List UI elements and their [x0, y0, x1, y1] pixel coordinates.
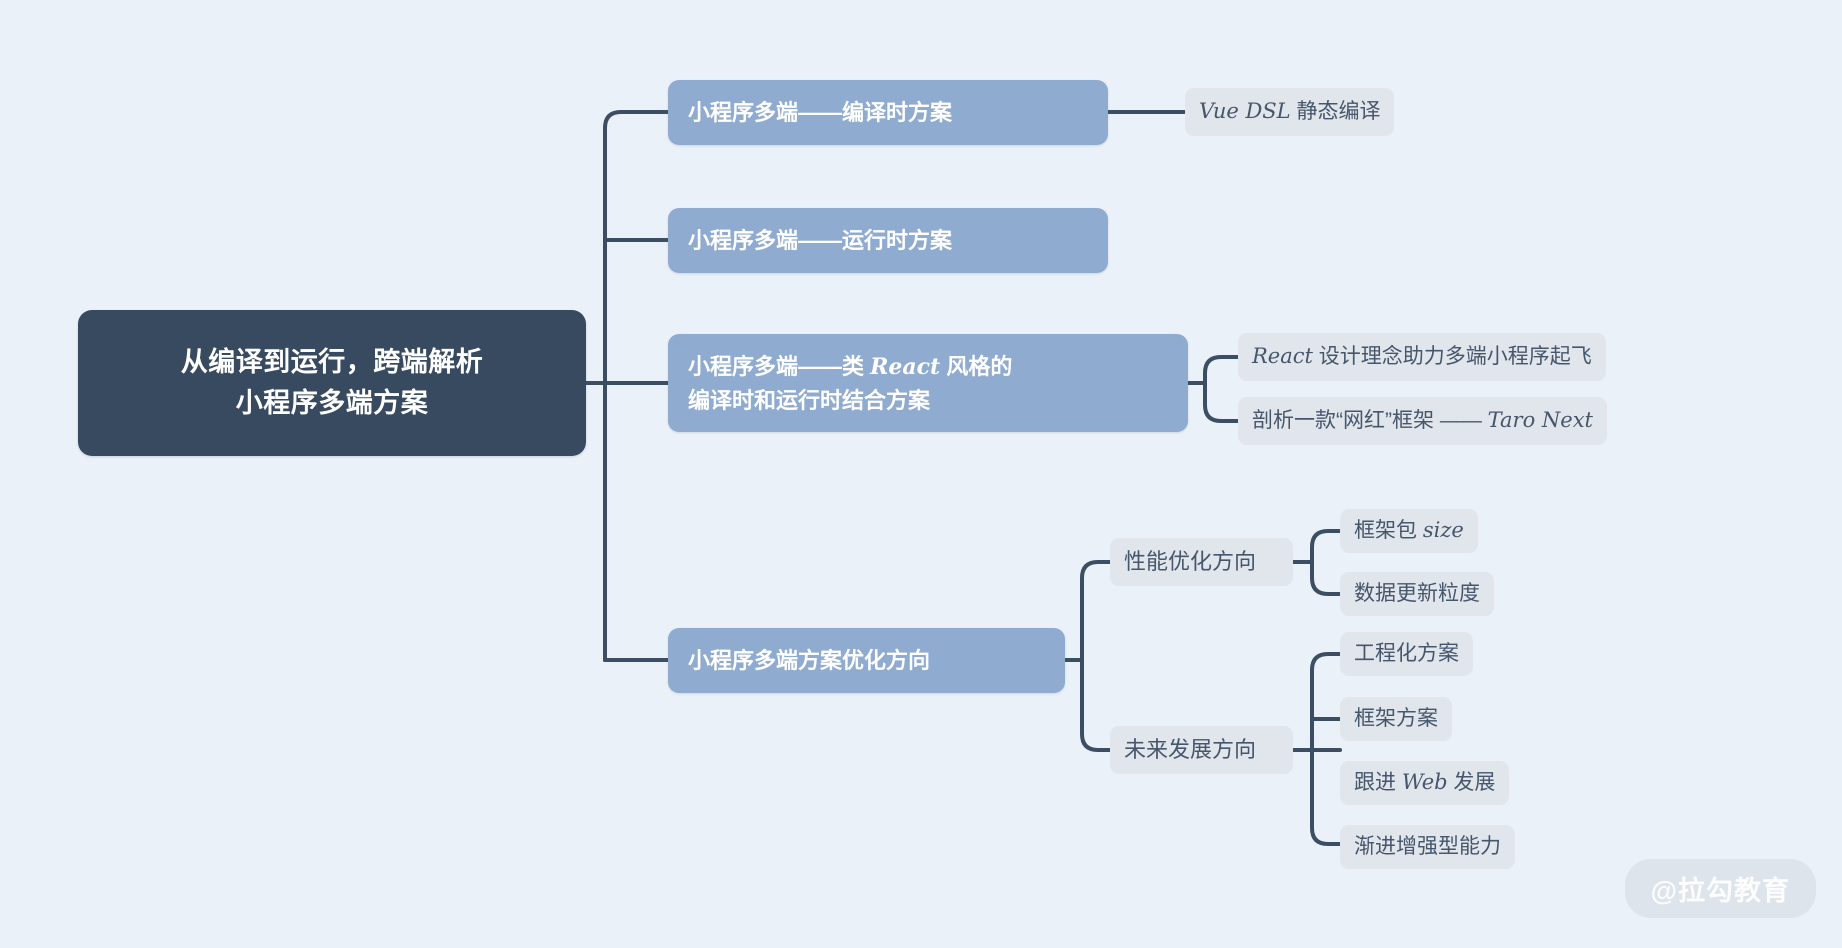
branch-node-react-style-line2: 编译时和运行时结合方案 — [688, 384, 930, 417]
leaf-vue-dsl-label: 静态编译 — [1291, 99, 1381, 124]
leaf-engineering-label: 工程化方案 — [1354, 641, 1459, 666]
leaf-react-latin: React — [1252, 344, 1313, 369]
leaf-vue-dsl-static-compile[interactable]: Vue DSL 静态编译 — [1185, 88, 1394, 136]
leaf-progressive-enhancement[interactable]: 渐进增强型能力 — [1340, 825, 1515, 869]
edge-g2-item4 — [1312, 750, 1340, 844]
leaf-framework-label: 框架方案 — [1354, 706, 1438, 731]
edge-g1-item1 — [1312, 531, 1340, 562]
root-node-line2: 小程序多端方案 — [236, 383, 429, 424]
branch-node-react-style-line1: 小程序多端——类 React 风格的 — [688, 350, 1012, 384]
leaf-taro-latin: Taro Next — [1488, 408, 1593, 433]
branch-node-runtime-label: 小程序多端——运行时方案 — [688, 224, 952, 257]
branch-node-optimization-label: 小程序多端方案优化方向 — [688, 644, 930, 677]
leaf-vue-dsl-latin: Vue DSL — [1199, 99, 1291, 124]
edge-g2-item1 — [1312, 654, 1340, 750]
leaf-data-granularity-label: 数据更新粒度 — [1354, 581, 1480, 606]
root-node[interactable]: 从编译到运行，跨端解析 小程序多端方案 — [78, 310, 586, 456]
edge-g1-item2 — [1312, 562, 1340, 594]
group-node-performance-label: 性能优化方向 — [1124, 549, 1256, 575]
branch-node-react-style[interactable]: 小程序多端——类 React 风格的 编译时和运行时结合方案 — [668, 334, 1188, 432]
edge-b3-leaf1 — [1205, 357, 1238, 383]
leaf-react-label: 设计理念助力多端小程序起飞 — [1313, 344, 1592, 369]
leaf-taro-pre: 剖析一款“网红”框架 —— — [1252, 408, 1488, 433]
group-node-future[interactable]: 未来发展方向 — [1110, 726, 1293, 774]
root-node-line1: 从编译到运行，跨端解析 — [181, 342, 484, 383]
edge-branch-1 — [605, 112, 668, 128]
mindmap-canvas: 从编译到运行，跨端解析 小程序多端方案 小程序多端——编译时方案 Vue DSL… — [0, 0, 1842, 948]
watermark-badge: @拉勾教育 — [1625, 859, 1816, 918]
leaf-follow-web-latin: Web — [1402, 770, 1448, 795]
react-latin: React — [870, 354, 940, 380]
edge-b3-leaf2 — [1205, 383, 1238, 421]
edge-b4-group1 — [1082, 562, 1110, 660]
group-node-future-label: 未来发展方向 — [1124, 737, 1256, 763]
leaf-progressive-label: 渐进增强型能力 — [1354, 834, 1501, 859]
leaf-pkg-size-latin: size — [1423, 518, 1464, 543]
leaf-framework-package-size[interactable]: 框架包 size — [1340, 509, 1478, 553]
branch-node-compile-time-label: 小程序多端——编译时方案 — [688, 96, 952, 129]
branch-node-runtime[interactable]: 小程序多端——运行时方案 — [668, 208, 1108, 273]
leaf-react-design-philosophy[interactable]: React 设计理念助力多端小程序起飞 — [1238, 333, 1606, 381]
leaf-data-update-granularity[interactable]: 数据更新粒度 — [1340, 572, 1494, 616]
leaf-follow-web-post: 发展 — [1448, 770, 1496, 795]
leaf-follow-web-pre: 跟进 — [1354, 770, 1402, 795]
leaf-pkg-size-pre: 框架包 — [1354, 518, 1423, 543]
leaf-follow-web[interactable]: 跟进 Web 发展 — [1340, 761, 1509, 805]
leaf-engineering-solution[interactable]: 工程化方案 — [1340, 632, 1473, 676]
leaf-taro-next[interactable]: 剖析一款“网红”框架 —— Taro Next — [1238, 397, 1607, 445]
leaf-framework-solution[interactable]: 框架方案 — [1340, 697, 1452, 741]
group-node-performance[interactable]: 性能优化方向 — [1110, 538, 1293, 586]
edge-b4-group2 — [1082, 660, 1110, 750]
branch-node-optimization[interactable]: 小程序多端方案优化方向 — [668, 628, 1065, 693]
branch-node-compile-time[interactable]: 小程序多端——编译时方案 — [668, 80, 1108, 145]
